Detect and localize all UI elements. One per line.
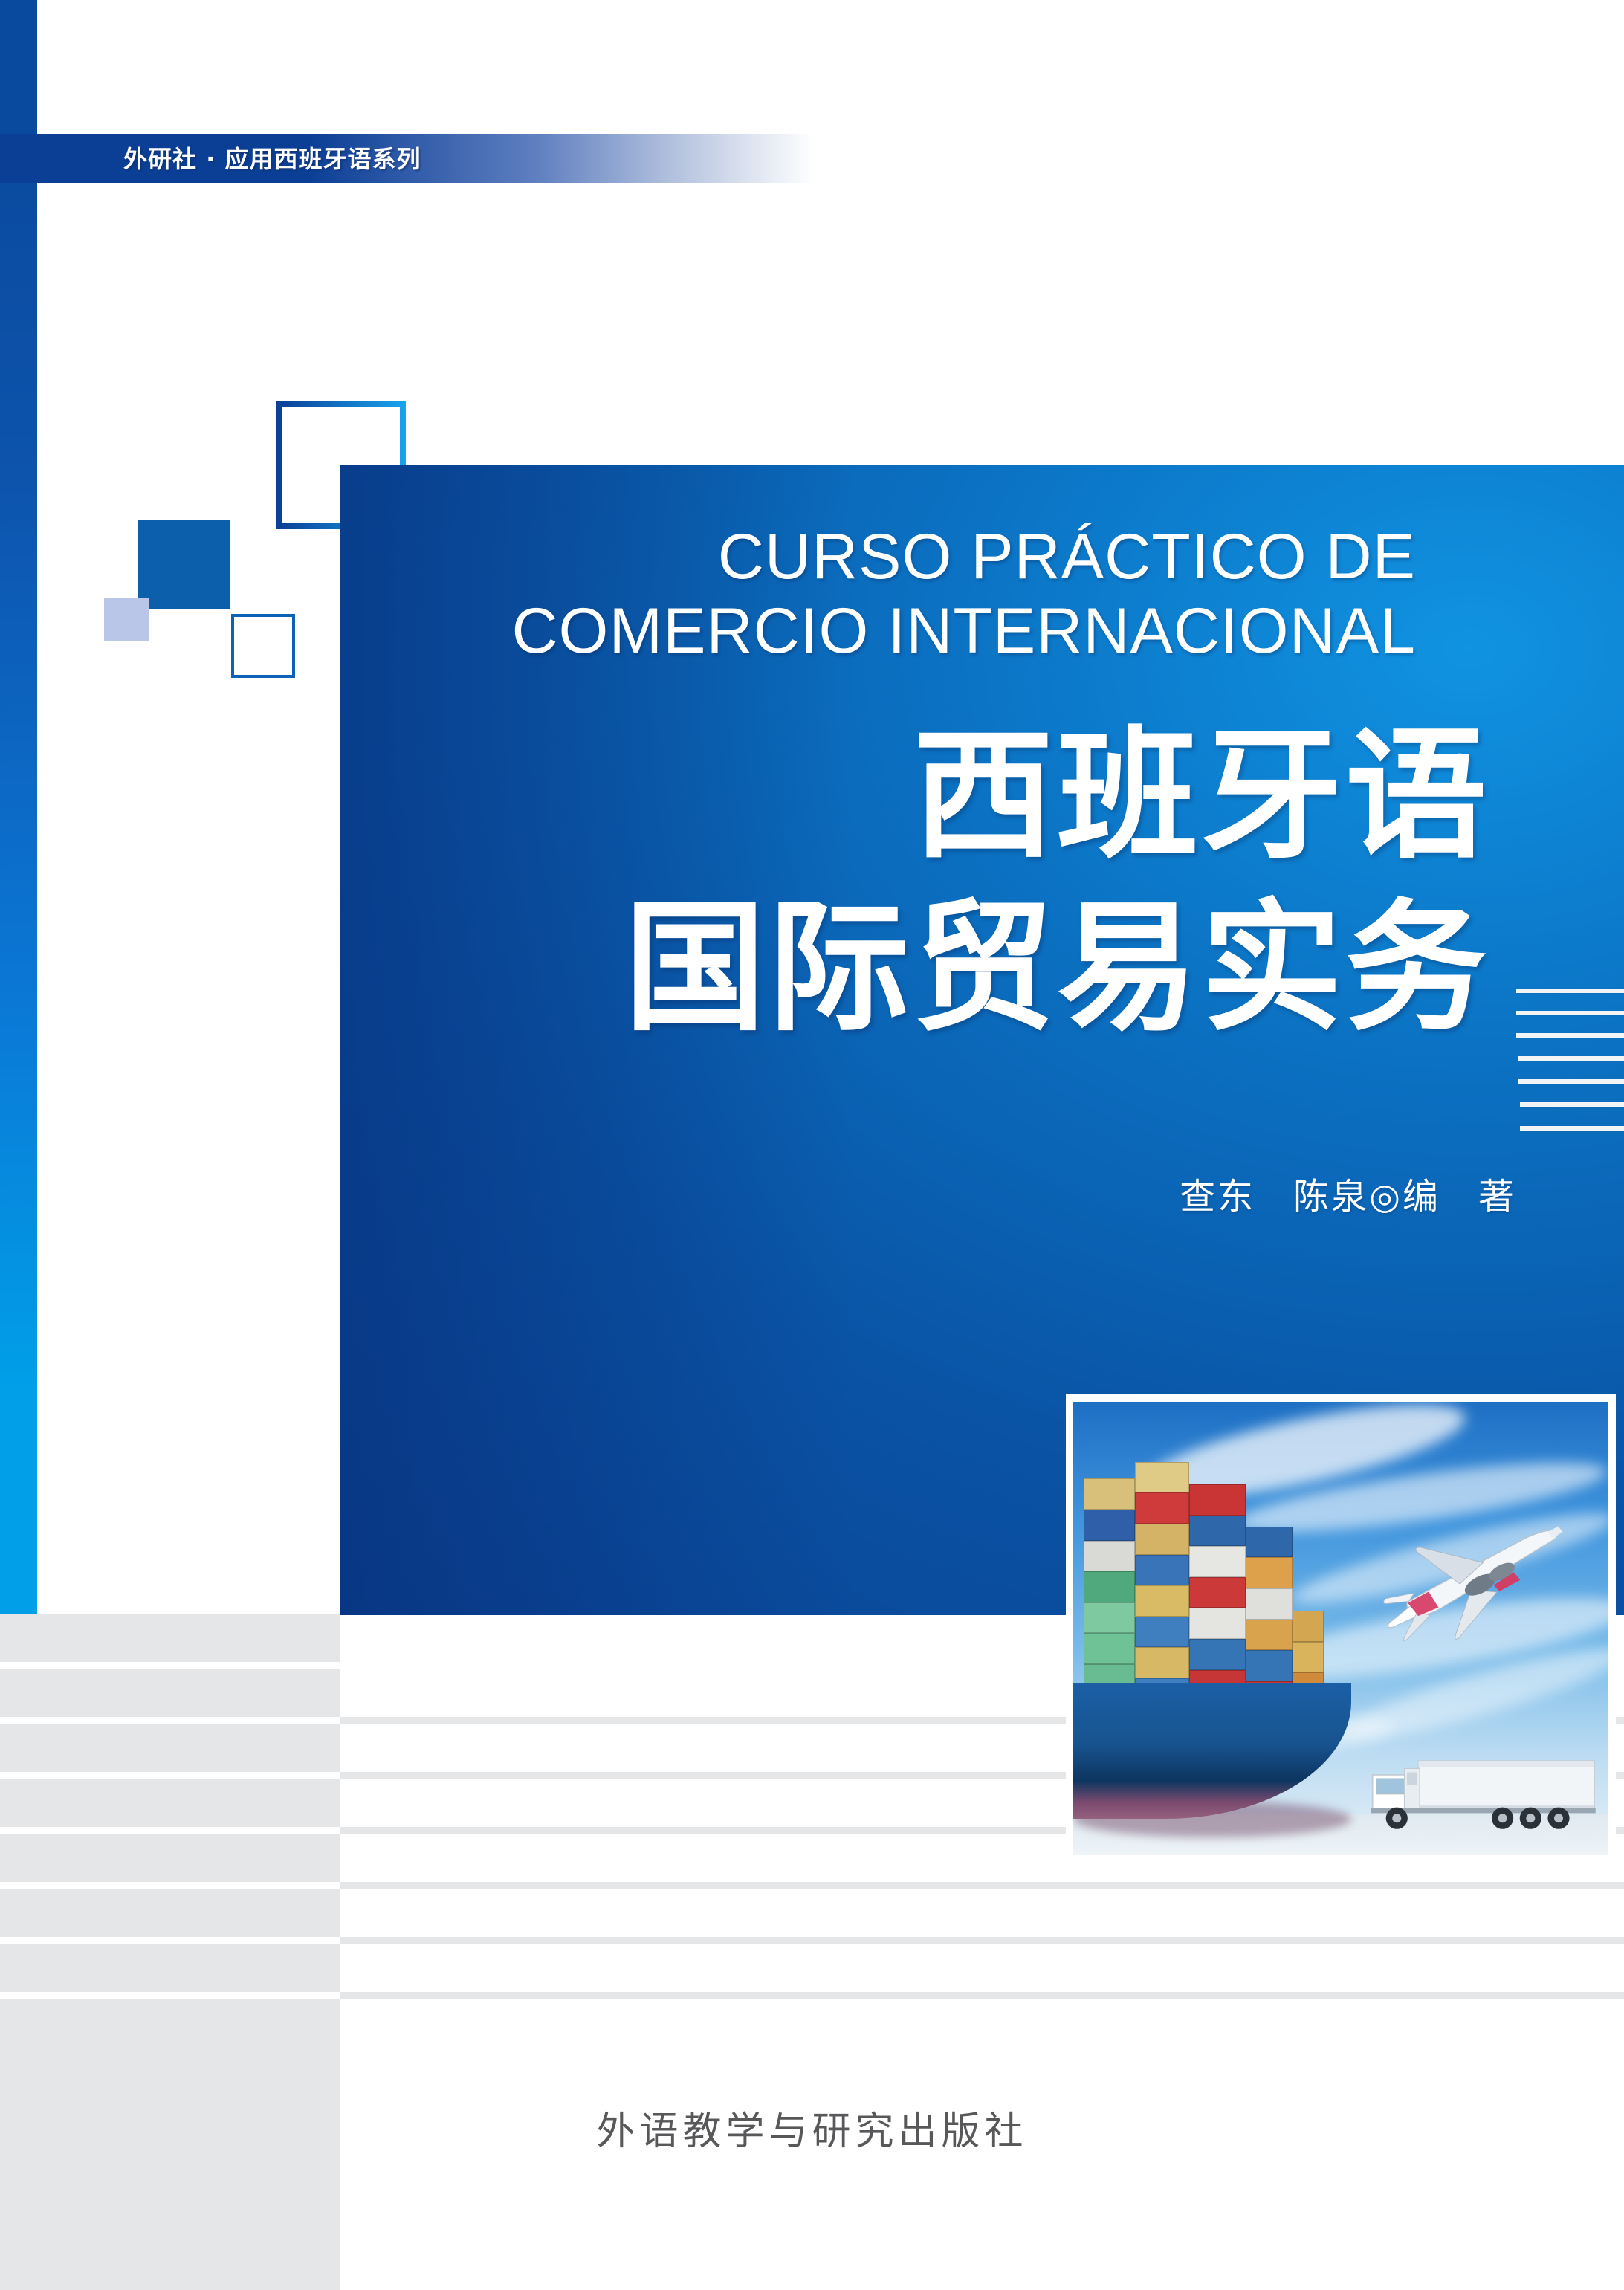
decor-outline-square-small	[231, 614, 295, 678]
bottom-stripes-left	[0, 1614, 340, 2290]
spanish-title: CURSO PRÁCTICO DE COMERCIO INTERNACIONAL	[297, 520, 1524, 669]
cover-photo-frame	[1066, 1394, 1616, 1863]
book-cover: 外研社 · 应用西班牙语系列 CURSO PRÁCTICO DE COMERCI…	[0, 0, 1624, 2290]
chinese-title: 西班牙语 国际贸易实务	[312, 710, 1516, 1055]
spanish-title-line-1: CURSO PRÁCTICO DE	[297, 520, 1524, 595]
series-label: 外研社 · 应用西班牙语系列	[123, 140, 421, 175]
decor-filled-square-medium	[138, 520, 230, 609]
delivery-truck-icon	[1336, 1747, 1603, 1846]
decor-periwinkle-square	[104, 598, 149, 641]
chinese-title-line-2: 国际贸易实务	[312, 882, 1516, 1055]
spanish-title-line-2: COMERCIO INTERNACIONAL	[297, 595, 1524, 669]
author-line: 查东 陈泉◎编 著	[312, 1167, 1604, 1219]
cargo-airplane-icon	[1351, 1501, 1597, 1655]
publisher-name: 外语教学与研究出版社	[0, 2100, 1624, 2155]
left-edge-strip	[0, 0, 37, 1614]
ship-hull	[1073, 1683, 1351, 1819]
decor-right-rules	[1516, 989, 1624, 1152]
logistics-photo	[1073, 1402, 1608, 1855]
chinese-title-line-1: 西班牙语	[312, 710, 1516, 882]
